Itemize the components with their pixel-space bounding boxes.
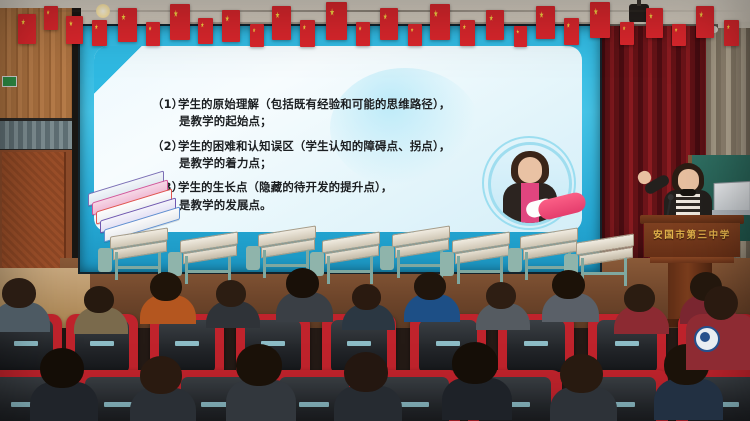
chinese-flag-icon [18,14,36,44]
chinese-flag-icon [536,6,555,39]
lecture-hall-photo: （1） 学生的原始理解（包括既有经验和可能的思维路径）， 是教学的起始点； （2… [0,0,750,421]
seat-number-tag [436,341,460,345]
chinese-flag-icon [44,6,58,30]
seat-number-tag [299,402,328,407]
bullet-number: （1） [152,96,178,131]
seat-number-tag [14,341,37,345]
chinese-flag-icon [170,4,190,40]
presenter-collar [680,189,696,196]
bullet-number: （2） [152,138,178,173]
badge-inner-icon [700,332,710,342]
chinese-flag-icon [514,26,527,47]
emergency-exit-sign [2,76,17,87]
chinese-flag-icon [146,22,160,46]
audience-head [452,342,498,384]
bullet-line-1: 学生的生长点（隐藏的待开发的提升点）， [178,180,393,194]
chinese-flag-banner [0,0,750,58]
slide-content-panel: （1） 学生的原始理解（包括既有经验和可能的思维路径）， 是教学的起始点； （2… [94,46,582,232]
chinese-flag-icon [460,20,475,46]
audience-head [486,282,516,309]
audience-head [624,284,655,312]
list-item: （1） 学生的原始理解（包括既有经验和可能的思维路径）， 是教学的起始点； [152,96,562,131]
audience-head [150,272,182,301]
audience-head [236,344,282,386]
photo-face [518,157,542,183]
audience-head [286,268,319,298]
chinese-flag-icon [590,2,610,38]
audience-shoulders [654,379,723,420]
seat-number-tag [399,402,428,407]
bullet-text: 学生的原始理解（包括既有经验和可能的思维路径）， 是教学的起始点； [178,96,562,131]
seat-number-tag [524,341,548,345]
left-wall-window-strip [0,118,78,152]
chinese-flag-icon [696,6,714,38]
chinese-flag-icon [380,8,398,40]
seat-number-tag [175,341,199,345]
bullet-line-1: 学生的困难和认知误区（学生认知的障碍点、拐点）， [178,139,450,153]
bullet-line-2: 是教学的起始点； [178,113,562,130]
presenter-face [678,169,699,191]
chinese-flag-icon [326,2,347,40]
banner-string [0,10,750,12]
audience-head [352,284,381,310]
audience-head [2,278,36,308]
audience-head [552,270,585,299]
audience-member-with-badge [686,292,750,366]
audience-head [560,354,603,393]
chinese-flag-icon [250,24,264,47]
chinese-flag-icon [486,10,504,40]
badge-person-head [704,286,738,320]
audience-head [140,356,182,394]
seat-number-tag [90,341,113,345]
chinese-flag-icon [724,20,739,46]
audience-head [40,348,84,388]
audience-shoulders [226,380,296,421]
chinese-flag-icon [92,20,107,46]
bullet-line-1: 学生的原始理解（包括既有经验和可能的思维路径）， [178,97,450,111]
chinese-flag-icon [408,24,422,46]
audience-head [84,286,114,313]
audience-head [344,352,388,392]
chinese-flag-icon [620,22,634,45]
venue-name-sign: 安国市第三中学 [646,227,738,241]
stacked-books-illustration [86,174,196,234]
chinese-flag-icon [272,6,291,40]
audience-shoulders [442,378,512,420]
chinese-flag-icon [356,22,370,46]
chinese-flag-icon [198,18,213,44]
chinese-flag-icon [672,24,686,46]
seat-number-tag [104,402,132,407]
chinese-flag-icon [222,10,240,42]
chinese-flag-icon [300,20,315,47]
chinese-flag-icon [430,4,450,40]
chinese-flag-icon [66,16,83,44]
chinese-flag-icon [646,8,663,38]
audience-head [414,272,446,300]
seat-number-tag [347,341,371,345]
ceiling-light-icon [96,4,110,18]
chinese-flag-icon [118,8,137,42]
chinese-flag-icon [564,18,579,45]
audience-head [216,280,246,307]
seat-number-tag [615,341,640,345]
